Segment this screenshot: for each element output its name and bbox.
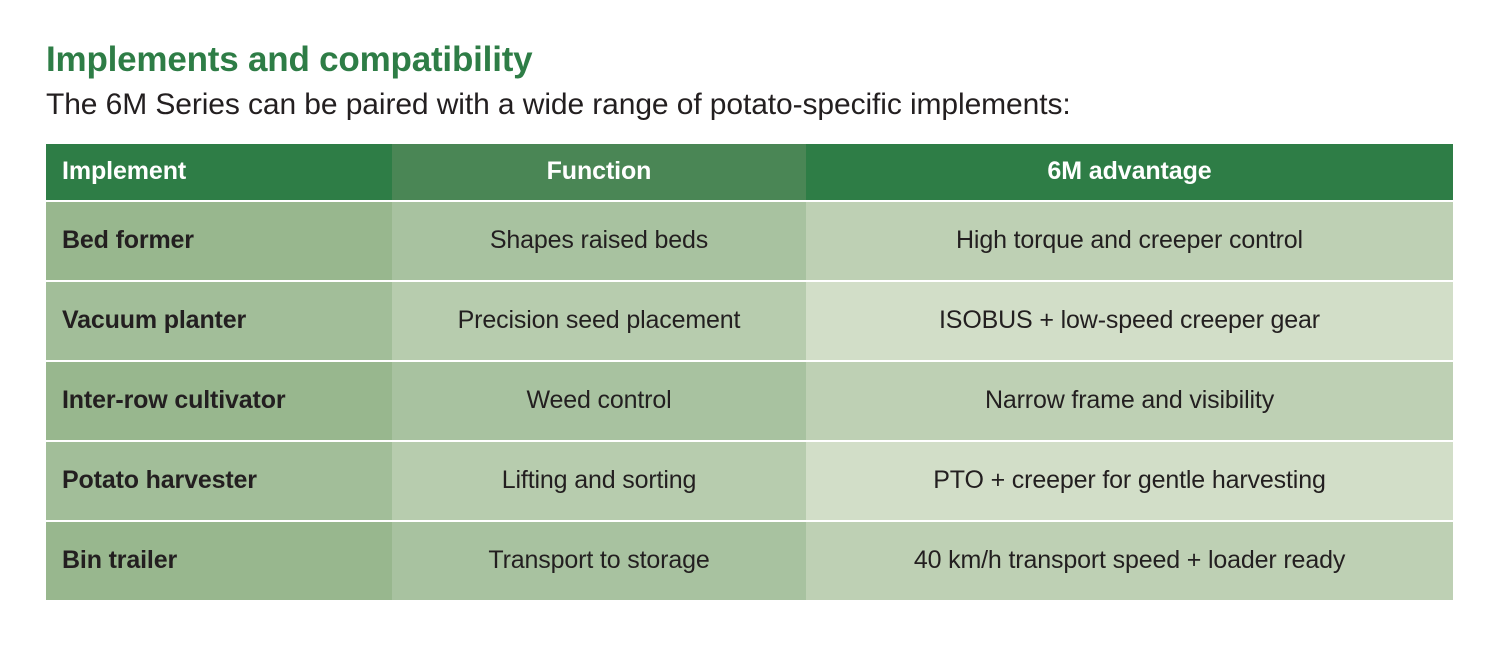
table-body: Bed former Shapes raised beds High torqu… [46,200,1453,600]
cell-advantage: ISOBUS + low-speed creeper gear [806,280,1453,360]
cell-implement: Vacuum planter [46,280,392,360]
cell-function: Shapes raised beds [392,200,806,280]
implements-table-container: Implement Function 6M advantage Bed form… [46,144,1442,600]
cell-function: Lifting and sorting [392,440,806,520]
cell-advantage: Narrow frame and visibility [806,360,1453,440]
page-subtitle: The 6M Series can be paired with a wide … [46,79,1442,123]
cell-function: Weed control [392,360,806,440]
column-header-function: Function [392,144,806,200]
table-row: Inter-row cultivator Weed control Narrow… [46,360,1453,440]
column-header-advantage: 6M advantage [806,144,1453,200]
cell-implement: Bed former [46,200,392,280]
cell-implement: Potato harvester [46,440,392,520]
table-row: Bin trailer Transport to storage 40 km/h… [46,520,1453,600]
table-row: Vacuum planter Precision seed placement … [46,280,1453,360]
cell-advantage: 40 km/h transport speed + loader ready [806,520,1453,600]
cell-implement: Bin trailer [46,520,392,600]
column-header-implement: Implement [46,144,392,200]
cell-function: Precision seed placement [392,280,806,360]
table-row: Potato harvester Lifting and sorting PTO… [46,440,1453,520]
table-row: Bed former Shapes raised beds High torqu… [46,200,1453,280]
table-header-row: Implement Function 6M advantage [46,144,1453,200]
page-title: Implements and compatibility [46,0,1442,79]
cell-implement: Inter-row cultivator [46,360,392,440]
cell-function: Transport to storage [392,520,806,600]
document-page: Implements and compatibility The 6M Seri… [0,0,1488,649]
cell-advantage: High torque and creeper control [806,200,1453,280]
cell-advantage: PTO + creeper for gentle harvesting [806,440,1453,520]
table-header: Implement Function 6M advantage [46,144,1453,200]
implements-compatibility-table: Implement Function 6M advantage Bed form… [46,144,1453,600]
